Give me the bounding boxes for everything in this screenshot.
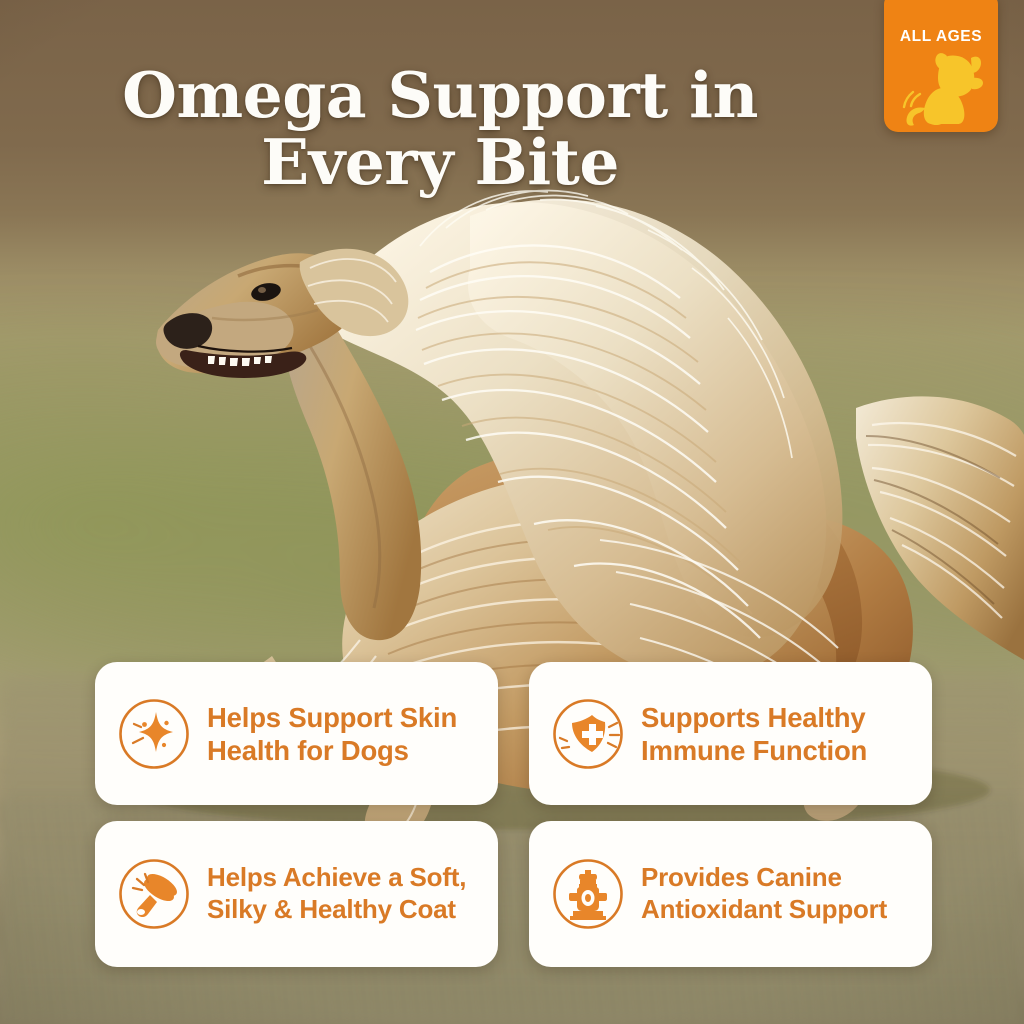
all-ages-badge-label: ALL AGES	[900, 28, 982, 46]
sparkle-star-icon	[115, 695, 193, 773]
feature-card-skin-health-label: Helps Support Skin Health for Dogs	[207, 701, 482, 767]
feature-card-antioxidant[interactable]: Provides Canine Antioxidant Support	[529, 821, 932, 967]
fire-hydrant-icon	[549, 855, 627, 933]
feature-card-grid: Helps Support Skin Health for Dogs	[95, 662, 935, 967]
feature-card-healthy-coat-label: Helps Achieve a Soft, Silky & Healthy Co…	[207, 862, 482, 925]
feature-card-immune-function[interactable]: Supports Healthy Immune Function	[529, 662, 932, 805]
headline-line-2: Every Bite	[0, 129, 880, 196]
page-title: Omega Support in Every Bite	[0, 62, 880, 196]
promo-banner: Omega Support in Every Bite ALL AGES	[0, 0, 1024, 1024]
shield-plus-icon	[549, 695, 627, 773]
feature-card-healthy-coat[interactable]: Helps Achieve a Soft, Silky & Healthy Co…	[95, 821, 498, 967]
sitting-dog-icon	[898, 48, 984, 128]
headline-line-1: Omega Support in	[122, 58, 758, 132]
feature-card-antioxidant-label: Provides Canine Antioxidant Support	[641, 862, 916, 925]
feature-card-skin-health[interactable]: Helps Support Skin Health for Dogs	[95, 662, 498, 805]
grooming-brush-icon	[115, 855, 193, 933]
all-ages-badge: ALL AGES	[884, 0, 998, 132]
feature-card-immune-function-label: Supports Healthy Immune Function	[641, 701, 916, 767]
